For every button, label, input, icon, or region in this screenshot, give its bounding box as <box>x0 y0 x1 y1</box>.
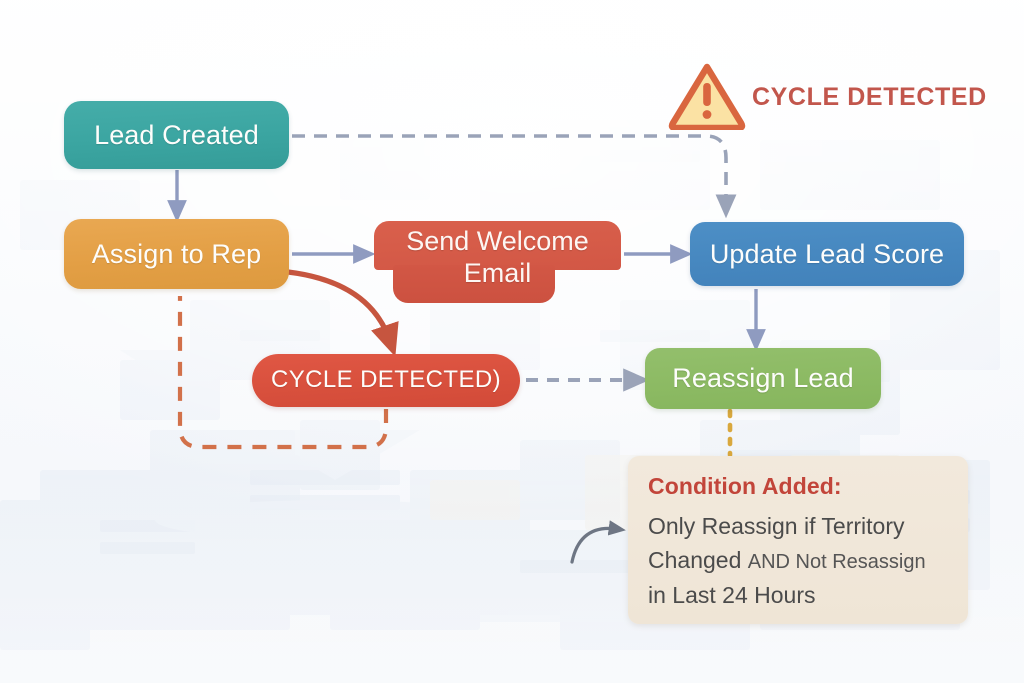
warning-triangle-icon <box>668 62 746 130</box>
diagram-canvas: CYCLE DETECTED Lead Created Assign to Re… <box>0 0 1024 683</box>
node-send-welcome-email-line-2: Email <box>374 258 621 290</box>
node-cycle-detected-pill[interactable]: CYCLE DETECTED) <box>252 354 520 407</box>
node-update-lead-score[interactable]: Update Lead Score <box>690 222 964 286</box>
condition-callout-title: Condition Added: <box>648 473 948 500</box>
connector-lead-created-to-update-lead-score <box>292 136 726 206</box>
pointer-arrow-to-condition-callout <box>572 528 617 562</box>
node-lead-created[interactable]: Lead Created <box>64 101 289 169</box>
condition-callout-line-3: in Last 24 Hours <box>648 578 948 612</box>
node-assign-to-rep[interactable]: Assign to Rep <box>64 219 289 289</box>
condition-callout-line-2-small: AND Not Resassign <box>748 551 926 573</box>
node-send-welcome-email-label: Send Welcome Email <box>374 226 621 289</box>
condition-callout-line-2: Changed AND Not Resassign <box>648 543 948 578</box>
condition-callout: Condition Added: Only Reassign if Territ… <box>628 456 968 624</box>
cycle-detected-caption: CYCLE DETECTED <box>752 83 987 112</box>
node-send-welcome-email-line-1: Send Welcome <box>374 226 621 258</box>
condition-callout-line-2-strong: Changed <box>648 547 741 573</box>
condition-callout-line-1: Only Reassign if Territory <box>648 509 948 543</box>
node-reassign-lead[interactable]: Reassign Lead <box>645 348 881 409</box>
